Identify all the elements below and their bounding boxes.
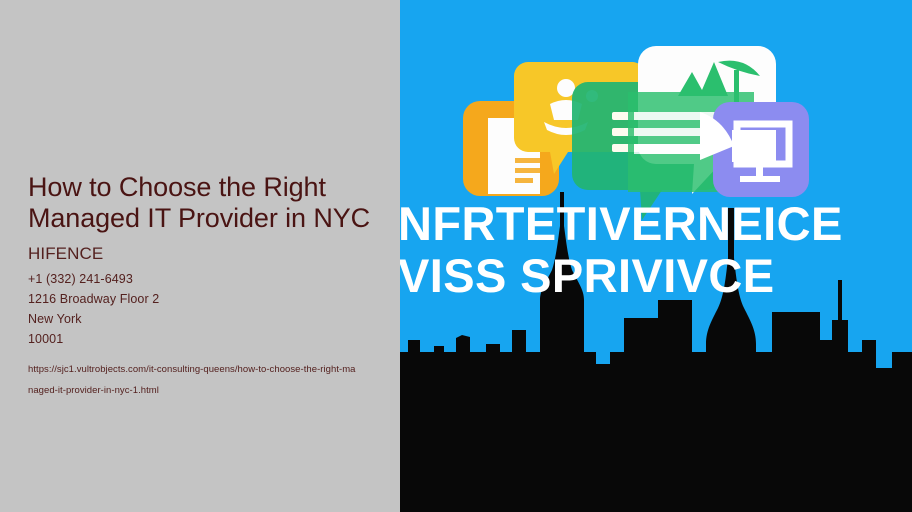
- article-info-stack: How to Choose the Right Managed IT Provi…: [28, 172, 396, 401]
- hero-image-panel: NFRTETIVERNEICE VISS SPRIVIVCE: [400, 0, 912, 512]
- address-street: 1216 Broadway Floor 2: [28, 289, 396, 309]
- page-title: How to Choose the Right Managed IT Provi…: [28, 172, 396, 234]
- hero-headline: NFRTETIVERNEICE VISS SPRIVIVCE: [400, 198, 912, 302]
- article-info-panel: How to Choose the Right Managed IT Provi…: [0, 0, 400, 512]
- hero-headline-line-2: VISS SPRIVIVCE: [400, 250, 912, 302]
- monitor-card: [700, 102, 809, 197]
- screenshot-page: How to Choose the Right Managed IT Provi…: [0, 0, 912, 512]
- hero-headline-line-1: NFRTETIVERNEICE: [400, 198, 912, 250]
- address-city: New York: [28, 309, 396, 329]
- phone-number: +1 (332) 241-6493: [28, 269, 396, 289]
- source-url[interactable]: https://sjc1.vultrobjects.com/it-consult…: [28, 359, 358, 401]
- brand-name: HIFENCE: [28, 243, 396, 264]
- address-zip: 10001: [28, 329, 396, 349]
